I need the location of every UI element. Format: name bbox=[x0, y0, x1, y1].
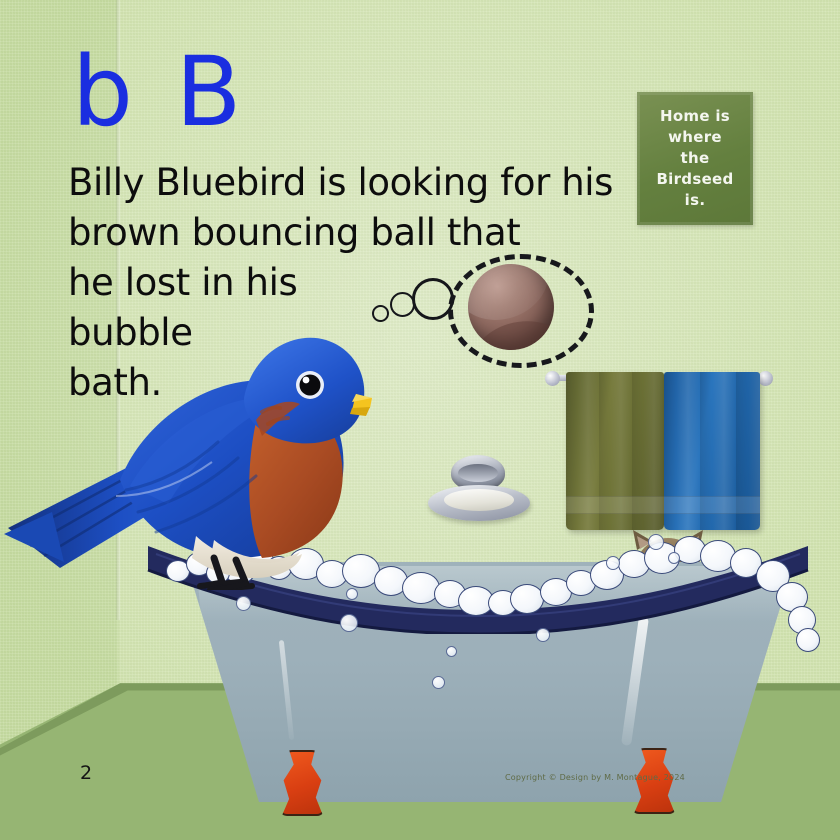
sign-line: is. bbox=[656, 190, 733, 211]
thought-bubble-dot-small bbox=[372, 305, 389, 322]
sign-line: Birdseed bbox=[656, 169, 733, 190]
floating-bubble bbox=[446, 646, 457, 657]
soap-bar bbox=[444, 489, 514, 511]
floating-bubble bbox=[236, 596, 251, 611]
floating-bubble bbox=[432, 676, 445, 689]
towel-rack-cap-right bbox=[758, 371, 773, 386]
floating-bubble bbox=[536, 628, 550, 642]
page-number: 2 bbox=[80, 762, 92, 784]
towel-band bbox=[664, 496, 760, 514]
story-line: brown bouncing ball that bbox=[68, 208, 628, 258]
soap-holder-inner bbox=[458, 464, 498, 482]
floating-bubble bbox=[648, 534, 664, 550]
story-line: Billy Bluebird is looking for his bbox=[68, 158, 628, 208]
billy-bluebird bbox=[0, 290, 372, 590]
sign-line: Home is bbox=[656, 106, 733, 127]
floating-bubble bbox=[668, 552, 680, 564]
brown-bouncing-ball bbox=[468, 264, 554, 350]
letter-header: b B bbox=[72, 44, 247, 140]
ball-shadow-seam bbox=[468, 313, 554, 350]
wall-sign-text: Home is where the Birdseed is. bbox=[656, 106, 733, 211]
sign-line: where bbox=[656, 127, 733, 148]
towel-rack-cap-left bbox=[545, 371, 560, 386]
floating-bubble bbox=[340, 614, 358, 632]
blue-towel bbox=[664, 372, 760, 530]
picture-book-page: b B Billy Bluebird is looking for his br… bbox=[0, 0, 840, 840]
floating-bubble bbox=[606, 556, 620, 570]
sign-line: the bbox=[656, 148, 733, 169]
copyright-notice: Copyright © Design by M. Montague, 2024 bbox=[505, 773, 685, 782]
foam-clump bbox=[510, 584, 544, 614]
wall-sign-plaque: Home is where the Birdseed is. bbox=[637, 92, 753, 225]
towel-band bbox=[566, 496, 664, 514]
olive-towel bbox=[566, 372, 664, 530]
foam-clump bbox=[796, 628, 820, 652]
